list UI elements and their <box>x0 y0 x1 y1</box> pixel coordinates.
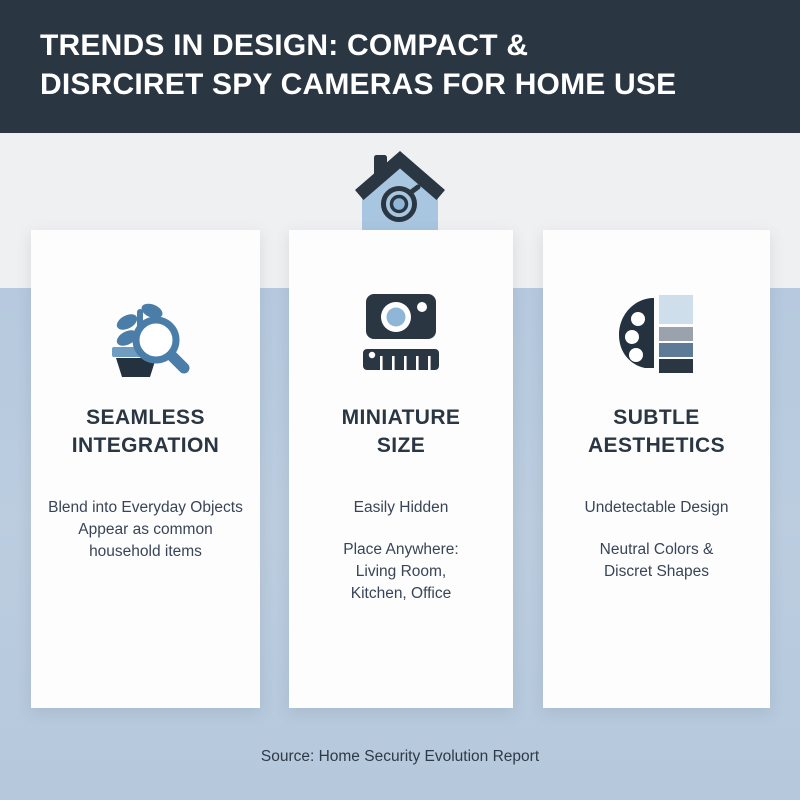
page-title: TRENDS IN DESIGN: COMPACT & DISRCIRET SP… <box>40 26 760 104</box>
feature-card-subtle-aesthetics[interactable]: SUBTLE AESTHETICS Undetectable Design Ne… <box>543 230 770 708</box>
card-line: Easily Hidden <box>354 497 449 519</box>
card-title: SEAMLESS INTEGRATION <box>62 404 230 459</box>
camera-ruler-icon <box>351 286 451 378</box>
header-bar: TRENDS IN DESIGN: COMPACT & DISRCIRET SP… <box>0 0 800 133</box>
palette-swatches-icon <box>607 286 707 378</box>
card-body: Undetectable Design Neutral Colors & Dis… <box>543 497 770 583</box>
card-line: Place Anywhere: Living Room, Kitchen, Of… <box>343 539 458 605</box>
card-body: Easily Hidden Place Anywhere: Living Roo… <box>289 497 513 605</box>
source-note: Source: Home Security Evolution Report <box>0 748 800 766</box>
card-line: Neutral Colors & Discret Shapes <box>600 539 714 583</box>
card-title: SUBTLE AESTHETICS <box>578 404 735 459</box>
feature-card-miniature-size[interactable]: MINIATURE SIZE Easily Hidden Place Anywh… <box>289 230 513 708</box>
feature-card-seamless-integration[interactable]: SEAMLESS INTEGRATION Blend into Everyday… <box>31 230 260 708</box>
house-camera-icon <box>352 148 448 230</box>
card-body: Blend into Everyday Objects Appear as co… <box>31 497 260 563</box>
infographic-canvas: TRENDS IN DESIGN: COMPACT & DISRCIRET SP… <box>0 0 800 800</box>
card-line: Blend into Everyday Objects Appear as co… <box>48 497 243 563</box>
plant-magnifier-icon <box>96 286 196 378</box>
card-line: Undetectable Design <box>585 497 729 519</box>
card-title: MINIATURE SIZE <box>332 404 471 459</box>
